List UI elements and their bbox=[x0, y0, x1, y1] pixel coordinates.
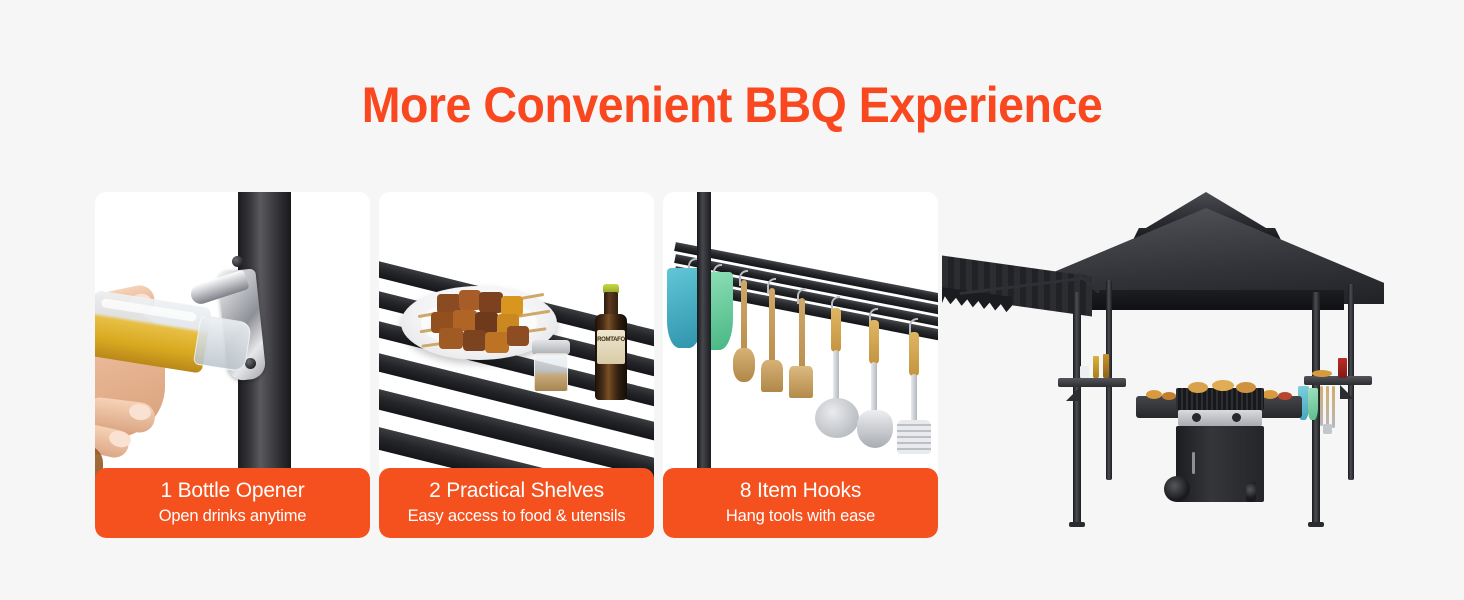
feature-card-bottle-opener[interactable]: 1 Bottle Opener Open drinks anytime bbox=[95, 192, 370, 538]
grill-wheel bbox=[1164, 476, 1190, 502]
beer-bottle-highlight bbox=[101, 298, 197, 322]
kebab-piece bbox=[479, 292, 503, 313]
skimmer-head bbox=[815, 398, 859, 438]
drinking-cup bbox=[1080, 366, 1089, 378]
grill-control-panel bbox=[1178, 410, 1262, 426]
page-title: More Convenient BBQ Experience bbox=[51, 76, 1413, 134]
side-shelf-left bbox=[1058, 378, 1126, 387]
wooden-turner-head bbox=[789, 366, 813, 398]
hanging-utensil bbox=[1320, 386, 1323, 426]
grill-wheel bbox=[1246, 482, 1256, 502]
gazebo-leg-front-left bbox=[1073, 292, 1081, 524]
side-shelf-bracket-left bbox=[1066, 387, 1080, 401]
feature-caption: 8 Item Hooks Hang tools with ease bbox=[663, 468, 938, 538]
bottle-opener-screw-top bbox=[232, 256, 243, 267]
feature-caption-subtitle: Open drinks anytime bbox=[95, 505, 370, 528]
bottle-label: ROMTAFO bbox=[597, 330, 625, 364]
feature-caption-title: 8 Item Hooks bbox=[663, 476, 938, 505]
kebab-piece bbox=[507, 326, 529, 346]
food-on-tray bbox=[1146, 390, 1162, 399]
kebab-piece bbox=[485, 332, 509, 353]
food-on-grill bbox=[1236, 382, 1256, 393]
ladle-head bbox=[857, 410, 893, 448]
kebab-piece bbox=[463, 330, 486, 351]
feature-caption: 2 Practical Shelves Easy access to food … bbox=[379, 468, 654, 538]
utensil-wood-grip bbox=[831, 308, 841, 352]
condiment-bottle bbox=[1103, 354, 1109, 378]
hanging-towel bbox=[1308, 388, 1318, 420]
spatula-head bbox=[897, 420, 931, 454]
food-on-grill bbox=[1188, 382, 1208, 393]
beer-bottle-neck bbox=[193, 315, 252, 373]
wooden-utensil-handle bbox=[799, 298, 805, 372]
feature-caption-subtitle: Hang tools with ease bbox=[663, 505, 938, 528]
feature-card-practical-shelves[interactable]: ROMTAFO 2 Practical Shelves Easy access … bbox=[379, 192, 654, 538]
feature-caption-subtitle: Easy access to food & utensils bbox=[379, 505, 654, 528]
feature-card-item-hooks[interactable]: 8 Item Hooks Hang tools with ease bbox=[663, 192, 938, 538]
utensil-metal-shaft bbox=[911, 374, 917, 426]
hero-product-photo bbox=[940, 180, 1444, 550]
grill-knob bbox=[1232, 413, 1241, 422]
utensil-wood-grip bbox=[869, 320, 879, 364]
wooden-utensil-handle bbox=[741, 280, 747, 354]
food-on-tray bbox=[1162, 392, 1176, 400]
grill-knob bbox=[1192, 413, 1201, 422]
hanging-utensil bbox=[1332, 386, 1335, 428]
feature-caption: 1 Bottle Opener Open drinks anytime bbox=[95, 468, 370, 538]
grill-cabinet-handle bbox=[1192, 452, 1195, 474]
food-on-tray bbox=[1278, 392, 1292, 400]
feature-caption-title: 2 Practical Shelves bbox=[379, 476, 654, 505]
food-on-tray bbox=[1262, 390, 1278, 399]
spice-shaker-jar bbox=[534, 353, 568, 392]
beer-bottle: ROMTAFO bbox=[595, 284, 627, 400]
gazebo-foot bbox=[1308, 522, 1324, 527]
spice-shaker bbox=[531, 340, 571, 392]
kebab-piece bbox=[459, 290, 481, 310]
side-shelf-bracket-right bbox=[1340, 385, 1354, 399]
food-on-shelf bbox=[1312, 370, 1332, 377]
feature-card-row: 1 Bottle Opener Open drinks anytime bbox=[95, 192, 938, 538]
wooden-spatula-head bbox=[761, 360, 783, 392]
wooden-spoon-head bbox=[733, 348, 755, 382]
hanging-utensil-blade bbox=[1323, 424, 1332, 434]
food-on-grill bbox=[1212, 380, 1234, 391]
sauce-jar bbox=[1338, 358, 1347, 378]
gazebo-foot bbox=[1069, 522, 1085, 527]
feature-caption-title: 1 Bottle Opener bbox=[95, 476, 370, 505]
wooden-utensil-handle bbox=[769, 288, 775, 366]
kebab-piece bbox=[439, 328, 463, 349]
utensil-wood-grip bbox=[909, 332, 919, 376]
bottle-opener-screw-bottom bbox=[245, 358, 256, 369]
condiment-bottle bbox=[1093, 356, 1099, 378]
kebab-piece bbox=[501, 296, 523, 316]
